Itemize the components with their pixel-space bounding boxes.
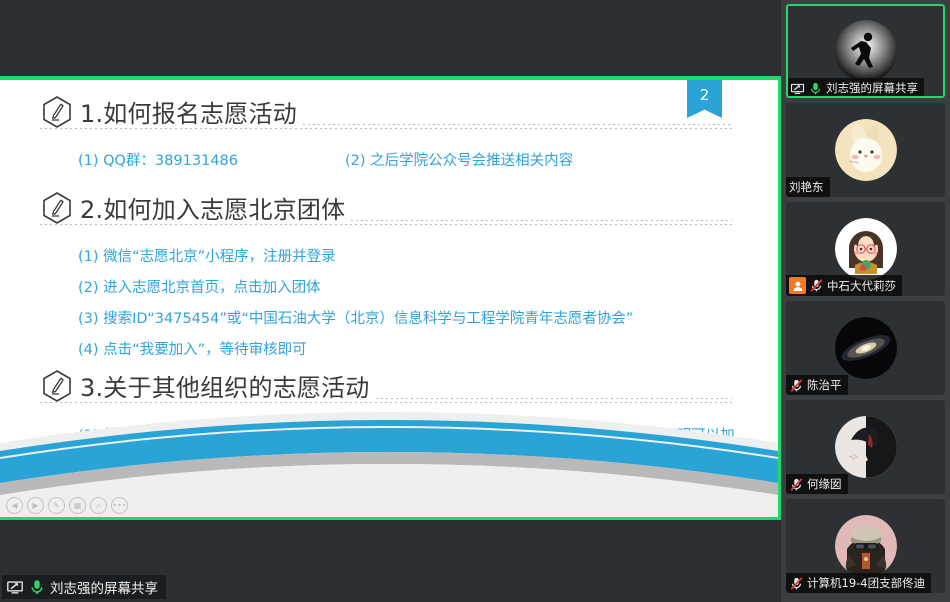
- screen-share-icon: [790, 81, 805, 96]
- pencil-hexagon-icon: [40, 191, 74, 225]
- heading-rule: [351, 220, 732, 221]
- heading-underline-2: [40, 224, 732, 225]
- bullet-2-1: (1) 微信“志愿北京”小程序，注册并登录: [78, 245, 336, 266]
- bullet-2-4: (4) 点击“我要加入”，等待审核即可: [78, 338, 307, 359]
- bullet-2-3: (3) 搜索ID“3475454”或“中国石油大学（北京）信息科学与工程学院青年…: [78, 307, 633, 328]
- pen-tool-button[interactable]: ✎: [48, 497, 65, 514]
- section-heading-1: 1.如何报名志愿活动: [40, 94, 732, 129]
- bullet-1-1: (1) QQ群：389131486: [78, 149, 238, 170]
- slide-page-number: 2: [700, 86, 710, 104]
- running-person-avatar: [835, 20, 897, 82]
- participant-tile[interactable]: 中石大代莉莎: [786, 202, 945, 296]
- taskbar: 刘志强的屏幕共享: [0, 572, 781, 602]
- more-options-button[interactable]: •••: [111, 497, 128, 514]
- zoom-button[interactable]: ⌕: [90, 497, 107, 514]
- next-slide-button[interactable]: ▶: [27, 497, 44, 514]
- participant-namebar: 计算机19-4团支部佟迪: [786, 573, 931, 593]
- participant-name: 计算机19-4团支部佟迪: [807, 575, 925, 591]
- participant-name: 陈治平: [807, 377, 842, 393]
- heading-rule: [303, 124, 732, 125]
- microphone-on-icon: [808, 81, 823, 96]
- anime-dark-avatar: [835, 416, 897, 478]
- bullet-1-2: (2) 之后学院公众号会推送相关内容: [345, 149, 573, 170]
- section-title: 1.如何报名志愿活动: [80, 94, 297, 129]
- section-title: 2.如何加入志愿北京团体: [80, 190, 345, 225]
- participant-tile[interactable]: 陈治平: [786, 301, 945, 395]
- slideshow-controls[interactable]: ◀ ▶ ✎ ▦ ⌕ •••: [6, 497, 128, 514]
- meeting-screen: 2 1.如何报名志愿活动: [0, 0, 950, 602]
- microphone-muted-icon: [809, 278, 824, 293]
- taskbar-share-label: 刘志强的屏幕共享: [50, 577, 158, 597]
- participant-name: 中石大代莉莎: [827, 278, 896, 294]
- microphone-on-icon: [28, 578, 46, 596]
- presentation-slide[interactable]: 2 1.如何报名志愿活动: [0, 80, 778, 517]
- participant-tile[interactable]: 刘艳东: [786, 103, 945, 197]
- galaxy-avatar: [835, 317, 897, 379]
- participant-tile[interactable]: 计算机19-4团支部佟迪: [786, 499, 945, 593]
- heading-underline-1: [40, 128, 732, 129]
- microphone-muted-icon: [789, 576, 804, 591]
- participant-name: 刘艳东: [789, 179, 824, 195]
- bullet-2-2: (2) 进入志愿北京首页，点击加入团体: [78, 276, 321, 297]
- slide-thumbnails-button[interactable]: ▦: [69, 497, 86, 514]
- previous-slide-button[interactable]: ◀: [6, 497, 23, 514]
- shared-screen-area[interactable]: 2 1.如何报名志愿活动: [0, 76, 781, 520]
- host-badge-icon: [789, 277, 806, 294]
- participant-namebar: 陈治平: [786, 375, 848, 395]
- microphone-muted-icon: [789, 477, 804, 492]
- screen-share-icon: [6, 578, 24, 596]
- taskbar-share-item[interactable]: 刘志强的屏幕共享: [2, 575, 166, 599]
- participant-namebar: 刘志强的屏幕共享: [786, 78, 924, 98]
- girl-glasses-avatar: [835, 218, 897, 280]
- microphone-muted-icon: [789, 378, 804, 393]
- participant-namebar: 刘艳东: [786, 177, 830, 197]
- participant-tile[interactable]: 刘志强的屏幕共享: [786, 4, 945, 98]
- participant-rail[interactable]: 刘志强的屏幕共享 刘艳东: [781, 0, 950, 602]
- participant-name: 何缘囡: [807, 476, 842, 492]
- rabbit-avatar: [835, 119, 897, 181]
- anime-cap-avatar: [835, 515, 897, 577]
- pencil-hexagon-icon: [40, 95, 74, 129]
- participant-name: 刘志强的屏幕共享: [826, 80, 918, 96]
- participant-namebar: 何缘囡: [786, 474, 848, 494]
- section-heading-2: 2.如何加入志愿北京团体: [40, 190, 732, 225]
- participant-namebar: 中石大代莉莎: [786, 275, 902, 296]
- participant-tile[interactable]: 何缘囡: [786, 400, 945, 494]
